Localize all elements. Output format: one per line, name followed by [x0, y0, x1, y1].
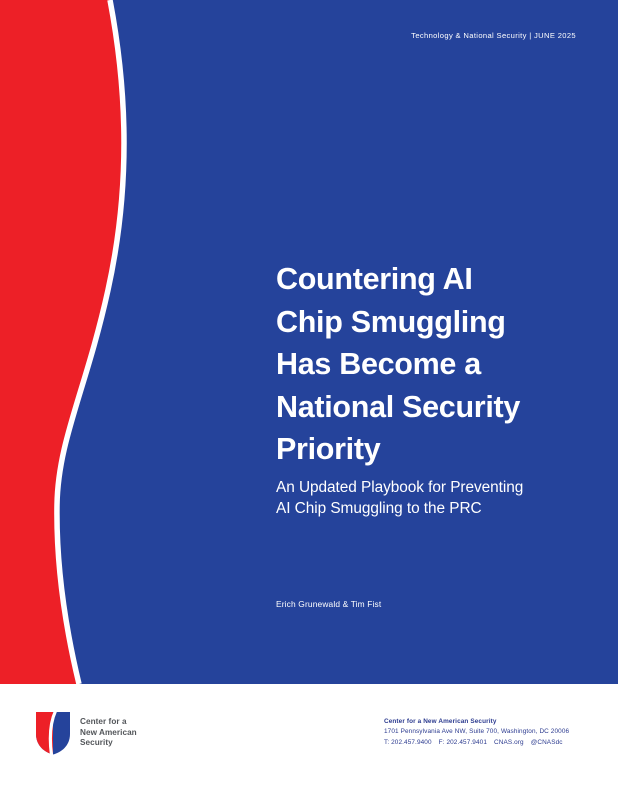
contact-block: Center for a New American Security 1701 …: [384, 717, 589, 748]
subtitle-line: An Updated Playbook for Preventing: [276, 477, 588, 499]
cnas-logo[interactable]: Center for a New American Security: [34, 710, 137, 756]
title-line: Countering AI: [276, 258, 588, 301]
eyebrow-program-date: Technology & National Security | JUNE 20…: [411, 31, 576, 40]
authors-byline: Erich Grunewald & Tim Fist: [276, 599, 381, 609]
title-block: Countering AI Chip Smuggling Has Become …: [276, 258, 588, 520]
phone-number: T: 202.457.9400: [384, 739, 432, 746]
title-line: Chip Smuggling: [276, 301, 588, 344]
contact-line: T: 202.457.9400F: 202.457.9401CNAS.org@C…: [384, 738, 589, 748]
fax-number: F: 202.457.9401: [439, 739, 487, 746]
social-handle[interactable]: @CNASdc: [531, 739, 563, 746]
report-cover-page: Technology & National Security | JUNE 20…: [0, 0, 618, 800]
title-line: National Security: [276, 386, 588, 429]
cover-footer: Center for a New American Security Cente…: [0, 684, 618, 800]
title-line: Has Become a: [276, 343, 588, 386]
page-subtitle: An Updated Playbook for Preventing AI Ch…: [276, 477, 588, 520]
logo-text-line: Security: [80, 738, 137, 749]
page-title: Countering AI Chip Smuggling Has Become …: [276, 258, 588, 471]
subtitle-line: AI Chip Smuggling to the PRC: [276, 498, 588, 520]
postal-address: 1701 Pennsylvania Ave NW, Suite 700, Was…: [384, 727, 589, 737]
shield-icon: [34, 710, 72, 756]
logo-text-line: New American: [80, 728, 137, 739]
cnas-logo-text: Center for a New American Security: [80, 717, 137, 749]
title-line: Priority: [276, 428, 588, 471]
logo-text-line: Center for a: [80, 717, 137, 728]
organization-name: Center for a New American Security: [384, 717, 589, 727]
website-link[interactable]: CNAS.org: [494, 739, 524, 746]
